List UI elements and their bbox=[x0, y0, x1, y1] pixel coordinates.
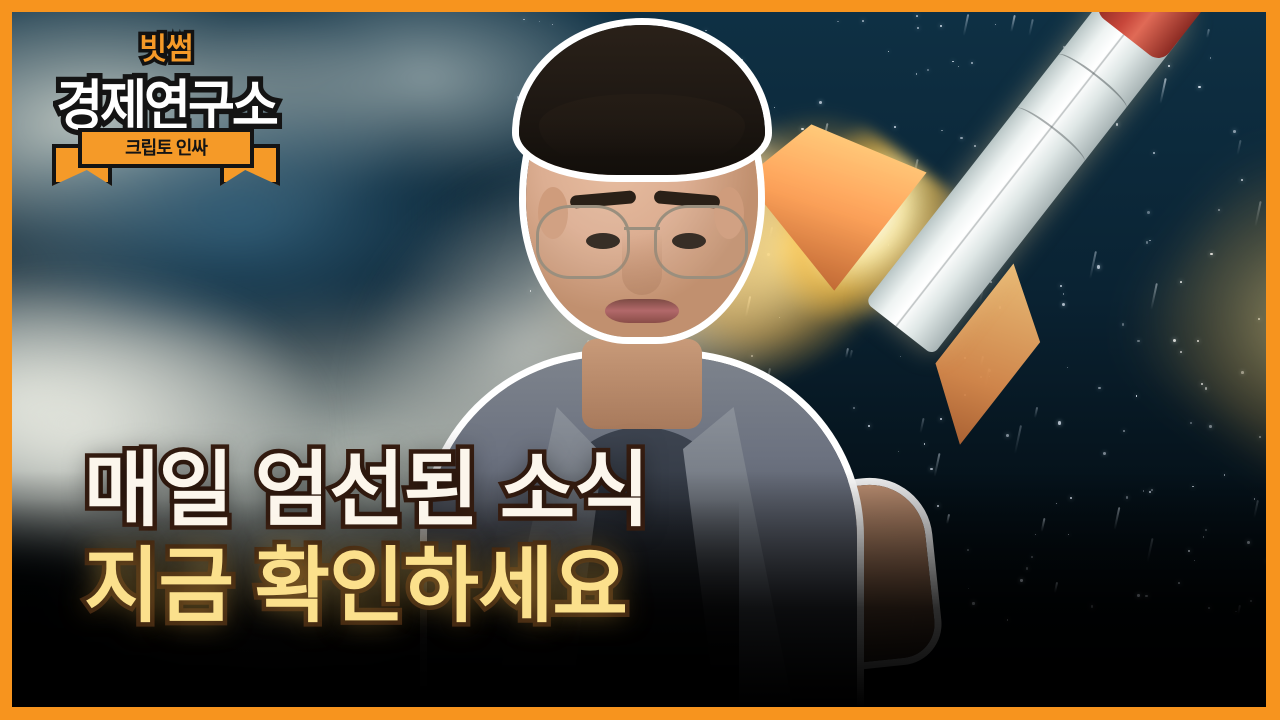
thumbnail-stage: 빗썸 경제연구소 크립토 인싸 매일 엄선된 소식 지금 확인하세요 bbox=[12, 12, 1266, 707]
neck bbox=[582, 339, 702, 429]
logo-main-line: 경제연구소 bbox=[46, 64, 286, 138]
hair bbox=[519, 25, 765, 175]
glasses-bridge bbox=[624, 227, 660, 230]
ribbon-band: 크립토 인싸 bbox=[78, 128, 254, 168]
logo-ribbon: 크립토 인싸 bbox=[56, 128, 276, 162]
caption-line-2: 지금 확인하세요 bbox=[84, 539, 784, 635]
ribbon-label: 크립토 인싸 bbox=[125, 139, 207, 157]
caption-line-1: 매일 엄선된 소식 bbox=[84, 443, 784, 539]
caption-block: 매일 엄선된 소식 지금 확인하세요 bbox=[84, 443, 784, 635]
nose bbox=[622, 233, 662, 295]
mouth bbox=[605, 299, 679, 323]
glasses-lens-left bbox=[536, 205, 630, 279]
glasses-lens-right bbox=[654, 205, 748, 279]
thumbnail-frame: 빗썸 경제연구소 크립토 인싸 매일 엄선된 소식 지금 확인하세요 bbox=[0, 0, 1280, 720]
channel-logo-badge[interactable]: 빗썸 경제연구소 크립토 인싸 bbox=[46, 16, 286, 188]
